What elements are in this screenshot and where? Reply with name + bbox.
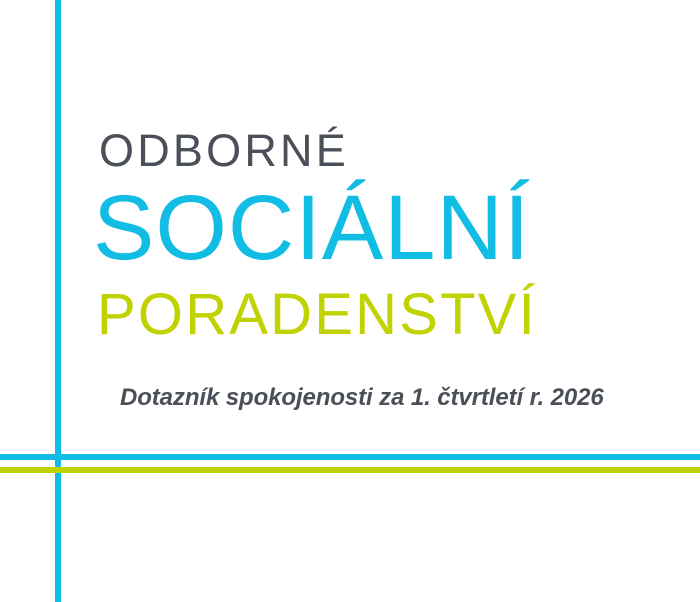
title-line-socialni: SOCIÁLNÍ	[93, 182, 683, 274]
vertical-accent-rule	[55, 0, 61, 602]
cover-page: ODBORNÉ SOCIÁLNÍ PORADENSTVÍ Dotazník sp…	[0, 0, 700, 602]
page-title: ODBORNÉ SOCIÁLNÍ PORADENSTVÍ	[93, 128, 683, 344]
horizontal-accent-rule-cyan	[0, 454, 700, 460]
title-line-odborne: ODBORNÉ	[99, 128, 683, 173]
title-line-poradenstvi: PORADENSTVÍ	[97, 286, 683, 344]
horizontal-accent-rule-green	[0, 467, 700, 473]
page-subtitle: Dotazník spokojenosti za 1. čtvrtletí r.…	[120, 383, 604, 413]
